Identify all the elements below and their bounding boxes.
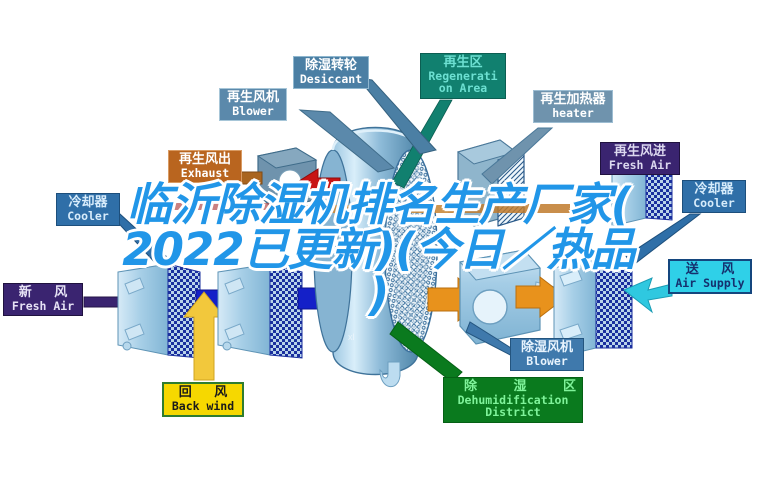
- label-cooler-left-cn: 冷却器: [61, 196, 115, 210]
- label-dehum-district-cn: 除 湿 区: [448, 380, 578, 394]
- label-regen-fresh-air-en: Fresh Air: [605, 159, 675, 171]
- label-exhaust-cn: 再生风出: [173, 153, 237, 167]
- faint-watermark-text: xl: [348, 332, 355, 342]
- label-dehum-blower: 除湿风机 Blower: [510, 338, 584, 371]
- label-dehumidification-district: 除 湿 区 Dehumidification District: [443, 377, 583, 423]
- label-fresh-air: 新 风 Fresh Air: [3, 283, 83, 316]
- label-cooler-right-cn: 冷却器: [687, 183, 741, 197]
- label-desiccant: 除湿转轮 Desiccant: [293, 56, 369, 89]
- label-cooler-left-en: Cooler: [61, 210, 115, 222]
- label-back-wind-en: Back wind: [168, 400, 238, 412]
- label-regen-blower-cn: 再生风机: [224, 91, 282, 105]
- label-regeneration-area-en: Regenerati on Area: [425, 70, 501, 95]
- label-regen-fresh-air: 再生风进 Fresh Air: [600, 142, 680, 175]
- diagram-canvas: xl 除湿转轮 Desiccant 再生风机 Blower 再生区 Regene…: [0, 0, 757, 488]
- label-dehum-blower-en: Blower: [515, 355, 579, 367]
- label-regeneration-area: 再生区 Regenerati on Area: [420, 53, 506, 99]
- label-dehum-district-en: Dehumidification District: [448, 394, 578, 419]
- label-cooler-right-en: Cooler: [687, 197, 741, 209]
- label-air-supply: 送 风 Air Supply: [668, 259, 752, 294]
- cooler-unit-2: [218, 264, 302, 358]
- label-air-supply-cn: 送 风: [674, 263, 746, 277]
- label-regen-blower-en: Blower: [224, 105, 282, 117]
- cooler-unit-1: [118, 264, 200, 358]
- label-regen-heater: 再生加热器 heater: [533, 90, 613, 123]
- label-air-supply-en: Air Supply: [674, 277, 746, 289]
- label-desiccant-en: Desiccant: [298, 73, 364, 85]
- label-desiccant-cn: 除湿转轮: [298, 59, 364, 73]
- label-dehum-blower-cn: 除湿风机: [515, 341, 579, 355]
- label-regen-fresh-air-cn: 再生风进: [605, 145, 675, 159]
- label-cooler-right: 冷却器 Cooler: [682, 180, 746, 213]
- label-fresh-air-cn: 新 风: [8, 286, 78, 300]
- label-fresh-air-en: Fresh Air: [8, 300, 78, 312]
- label-exhaust: 再生风出 Exhaust: [168, 150, 242, 183]
- label-back-wind: 回 风 Back wind: [162, 382, 244, 417]
- label-back-wind-cn: 回 风: [168, 386, 238, 400]
- label-regeneration-area-cn: 再生区: [425, 56, 501, 70]
- label-cooler-left: 冷却器 Cooler: [56, 193, 120, 226]
- label-exhaust-en: Exhaust: [173, 167, 237, 179]
- label-regen-heater-cn: 再生加热器: [538, 93, 608, 107]
- label-regen-blower: 再生风机 Blower: [219, 88, 287, 121]
- dehumidifier-schematic: xl: [0, 0, 757, 488]
- label-regen-heater-en: heater: [538, 107, 608, 119]
